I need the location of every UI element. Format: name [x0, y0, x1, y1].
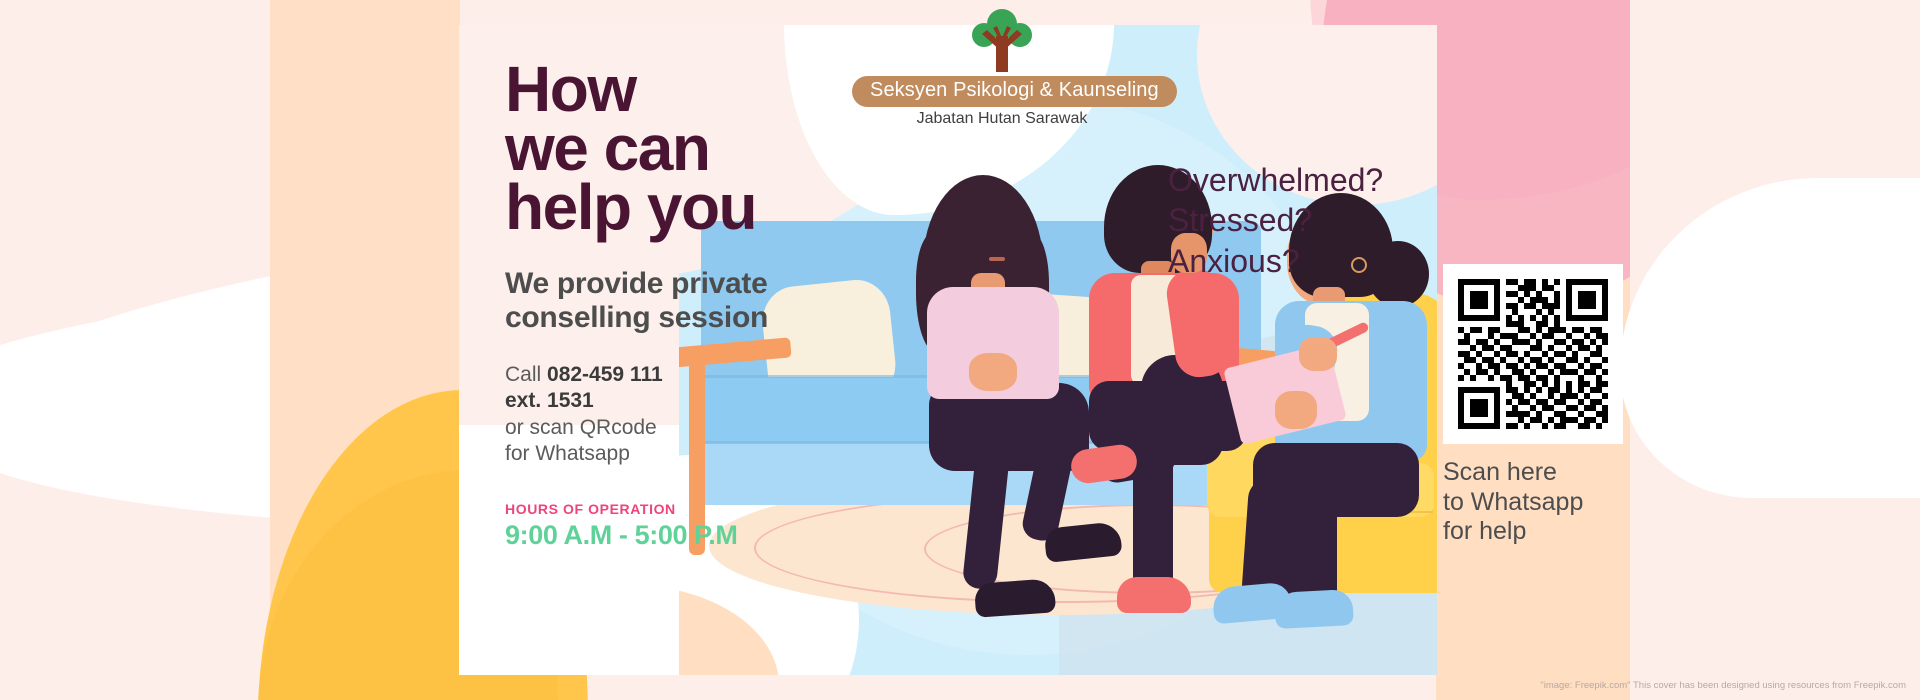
hours-value: 9:00 A.M - 5:00 P.M — [505, 520, 865, 551]
phone-extension: ext. 1531 — [505, 389, 594, 412]
qr-code[interactable] — [1443, 264, 1623, 444]
qr-block: Scan here to Whatsapp for help — [1443, 264, 1623, 547]
contact-line-4: for Whatsapp — [505, 441, 865, 467]
tree-icon — [962, 8, 1042, 74]
page-title: How we can help you — [505, 60, 865, 237]
question-line-3: Anxious? — [1168, 241, 1383, 281]
hours-label: HOURS OF OPERATION — [505, 501, 865, 517]
subheadline-line-2: conselling session — [505, 301, 865, 336]
counselor-shoe-2 — [1274, 589, 1354, 629]
image-credit: "image: Freepik.com" This cover has been… — [1540, 680, 1906, 691]
phone-number[interactable]: 082-459 111 — [547, 363, 663, 386]
person-middle-eye-1 — [1149, 221, 1156, 230]
contact-ext-line: ext. 1531 — [505, 388, 865, 414]
logo-subtitle: Jabatan Hutan Sarawak — [852, 110, 1152, 128]
logo-title: Seksyen Psikologi & Kaunseling — [852, 76, 1177, 107]
qr-modules — [1458, 279, 1608, 429]
counselor-hand-2 — [1299, 337, 1337, 371]
question-block: Overwhelmed? Stressed? Anxious? — [1168, 160, 1383, 281]
contact-call-line: Call 082-459 111 — [505, 362, 865, 388]
person-left-mouth — [989, 257, 1005, 261]
person-left-hand — [969, 353, 1017, 391]
question-line-2: Stressed? — [1168, 200, 1383, 240]
scan-line-3: for help — [1443, 517, 1623, 547]
counselor-hand-1 — [1275, 391, 1317, 429]
scan-line-1: Scan here — [1443, 458, 1623, 488]
person-left-eye-1 — [979, 231, 986, 240]
text-column: How we can help you We provide private c… — [505, 60, 865, 551]
person-middle-shin-2 — [1133, 445, 1173, 595]
subheadline: We provide private conselling session — [505, 267, 865, 337]
scan-instructions: Scan here to Whatsapp for help — [1443, 458, 1623, 547]
question-line-1: Overwhelmed? — [1168, 160, 1383, 200]
headline-line-1: How — [505, 60, 865, 119]
headline-line-2: we can — [505, 119, 865, 178]
poster-canvas: Seksyen Psikologi & Kaunseling Jabatan H… — [0, 0, 1920, 700]
contact-block: Call 082-459 111 ext. 1531 or scan QRcod… — [505, 362, 865, 467]
person-middle-shoe-2 — [1117, 577, 1191, 613]
headline-line-3: help you — [505, 178, 865, 237]
contact-line-3: or scan QRcode — [505, 415, 865, 441]
subheadline-line-1: We provide private — [505, 267, 865, 302]
scan-line-2: to Whatsapp — [1443, 488, 1623, 518]
organisation-logo: Seksyen Psikologi & Kaunseling Jabatan H… — [852, 8, 1152, 140]
person-left-eye-2 — [1003, 231, 1010, 240]
person-left-shoe-2 — [974, 578, 1056, 617]
person-left-brow-1 — [975, 221, 991, 225]
person-left-brow-2 — [999, 221, 1015, 225]
call-prefix: Call — [505, 363, 547, 386]
